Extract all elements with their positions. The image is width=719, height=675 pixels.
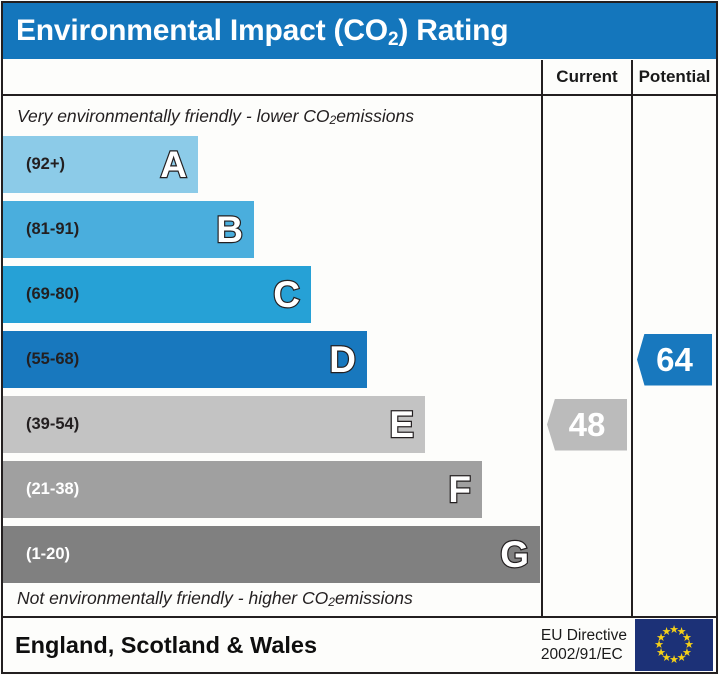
rating-band-letter-e: E (389, 405, 414, 442)
column-divider-current (541, 96, 543, 616)
footer-directive-line1: EU Directive (541, 626, 627, 645)
potential-rating-arrow: 64 (637, 334, 712, 386)
rating-band-e: (39-54)E (3, 396, 425, 453)
rating-band-d: (55-68)D (3, 331, 367, 388)
caption-bottom-post: emissions (335, 588, 413, 609)
caption-not-friendly: Not environmentally friendly - higher CO… (3, 580, 541, 616)
caption-top-subscript: 2 (330, 113, 337, 127)
rating-band-range-c: (69-80) (3, 286, 79, 303)
eu-flag-icon (635, 619, 713, 671)
page-title: Environmental Impact (CO2) Rating (3, 16, 508, 46)
chart-footer: England, Scotland & Wales EU Directive 2… (3, 616, 716, 672)
rating-band-letter-a: A (160, 145, 187, 182)
column-divider-potential (631, 96, 633, 616)
rating-band-f: (21-38)F (3, 461, 482, 518)
rating-band-letter-g: G (500, 535, 529, 572)
footer-directive-line2: 2002/91/EC (541, 645, 627, 664)
chart-title-bar: Environmental Impact (CO2) Rating (3, 3, 716, 59)
current-rating-value: 48 (569, 408, 606, 441)
rating-band-c: (69-80)C (3, 266, 311, 323)
rating-bands: (92+)A(81-91)B(69-80)C(55-68)D(39-54)E(2… (3, 136, 541, 580)
rating-band-range-e: (39-54) (3, 416, 79, 433)
rating-band-range-d: (55-68) (3, 351, 79, 368)
rating-band-letter-b: B (216, 210, 243, 247)
column-header-potential: Potential (631, 60, 716, 96)
caption-top-post: emissions (336, 106, 414, 127)
caption-top-pre: Very environmentally friendly - lower CO (17, 106, 330, 127)
current-rating-arrow: 48 (547, 399, 627, 451)
rating-band-letter-c: C (273, 275, 300, 312)
column-header-current: Current (541, 60, 631, 96)
rating-band-b: (81-91)B (3, 201, 254, 258)
rating-band-range-g: (1-20) (3, 546, 70, 563)
page-title-main: Environmental Impact (CO (16, 14, 388, 47)
potential-rating-value: 64 (656, 343, 693, 376)
page-title-subscript: 2 (388, 29, 398, 50)
rating-band-a: (92+)A (3, 136, 198, 193)
rating-band-letter-d: D (329, 340, 356, 377)
footer-directive-label: EU Directive 2002/91/EC (541, 626, 635, 665)
page-title-tail: ) Rating (398, 14, 508, 47)
column-header-blank (3, 60, 541, 96)
rating-band-range-f: (21-38) (3, 481, 79, 498)
footer-region-label: England, Scotland & Wales (3, 632, 317, 659)
caption-very-friendly: Very environmentally friendly - lower CO… (3, 98, 541, 134)
rating-band-g: (1-20)G (3, 526, 540, 583)
epc-environmental-impact-chart: Environmental Impact (CO2) Rating Curren… (0, 0, 719, 675)
caption-bottom-subscript: 2 (328, 595, 335, 609)
rating-band-letter-f: F (448, 470, 471, 507)
rating-band-range-a: (92+) (3, 156, 65, 173)
rating-band-range-b: (81-91) (3, 221, 79, 238)
caption-bottom-pre: Not environmentally friendly - higher CO (17, 588, 328, 609)
